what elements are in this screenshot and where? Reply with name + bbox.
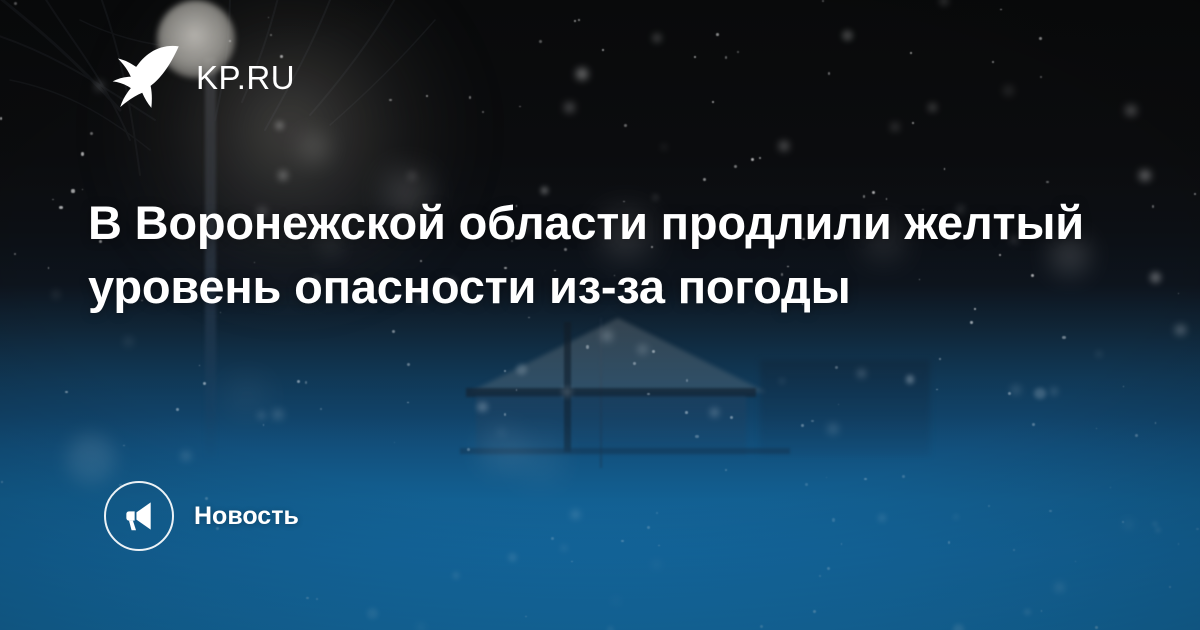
status-badge[interactable]: Новость (104, 481, 299, 551)
news-share-card: KP.RU В Воронежской области продлили жел… (0, 0, 1200, 630)
status-badge-label: Новость (194, 504, 299, 529)
brand-name-text: KP.RU (196, 58, 295, 94)
brand-logo[interactable]: KP.RU (104, 38, 295, 114)
megaphone-icon-circle (104, 481, 174, 551)
page-title: В Воронежской области продлили желтый ур… (88, 191, 1088, 319)
card-content: KP.RU В Воронежской области продлили жел… (0, 0, 1200, 630)
megaphone-icon (122, 499, 156, 533)
swallow-bird-icon (104, 38, 182, 114)
